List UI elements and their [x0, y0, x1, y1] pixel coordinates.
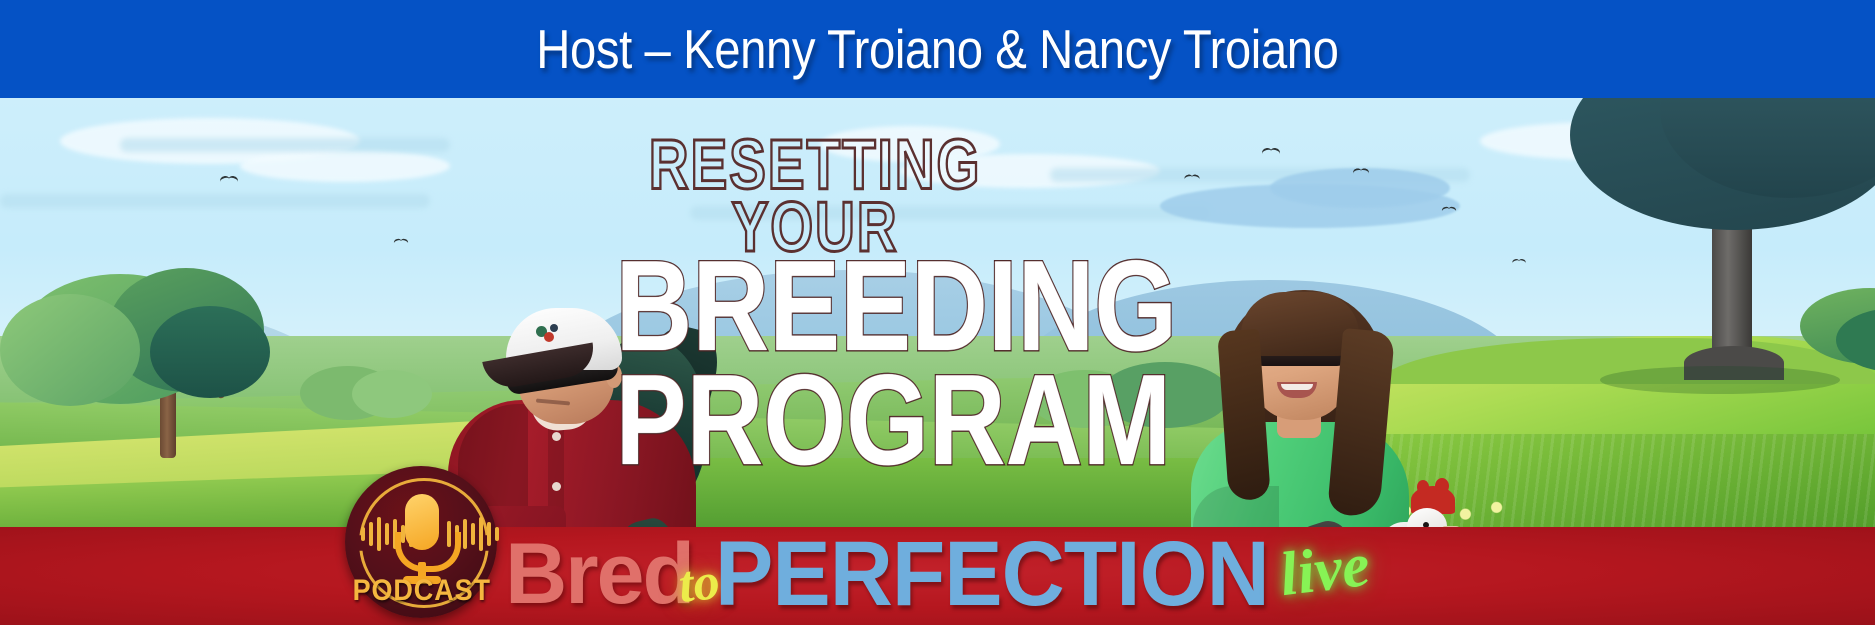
- left-tree-canopy-front: [0, 294, 140, 406]
- podcast-banner: Host – Kenny Troiano & Nancy Troiano: [0, 0, 1875, 625]
- podcast-label: PODCAST: [353, 576, 490, 606]
- title-line-2: BREEDING: [616, 250, 1015, 363]
- bird-5: [1353, 168, 1369, 175]
- man-shirt-button-1: [552, 432, 561, 441]
- cloud-streak-1: [0, 194, 430, 208]
- man-cap-logo-icon: [536, 324, 560, 344]
- bird-4: [1262, 148, 1280, 156]
- left-tree-canopy-dark: [150, 306, 270, 398]
- bird-3: [1184, 175, 1199, 182]
- logo-live: live: [1277, 534, 1373, 606]
- brand-logo[interactable]: Bred to PERFECTION live: [0, 527, 1875, 625]
- bird-7: [1512, 259, 1526, 265]
- man-shirt-button-2: [552, 482, 561, 491]
- host-header-bar: Host – Kenny Troiano & Nancy Troiano: [0, 0, 1875, 98]
- rooster-white-held-by-woman: [1295, 482, 1465, 527]
- logo-perfection: PERFECTION: [715, 528, 1269, 620]
- episode-title: RESETTING YOUR BREEDING PROGRAM: [605, 134, 1025, 463]
- midground-bush-2: [352, 370, 432, 418]
- right-tree-shadow: [1600, 366, 1840, 394]
- person-woman-nancy: [1185, 286, 1455, 527]
- bird-1: [220, 176, 238, 184]
- bird-2: [394, 239, 408, 245]
- host-line: Host – Kenny Troiano & Nancy Troiano: [536, 22, 1338, 77]
- cloud-2: [240, 150, 450, 182]
- title-line-3: PROGRAM: [616, 364, 1015, 477]
- logo-bred: Bred: [505, 531, 693, 617]
- podcast-badge[interactable]: PODCAST: [345, 466, 497, 618]
- cloud-streak-2: [120, 138, 450, 152]
- bird-6: [1442, 207, 1456, 213]
